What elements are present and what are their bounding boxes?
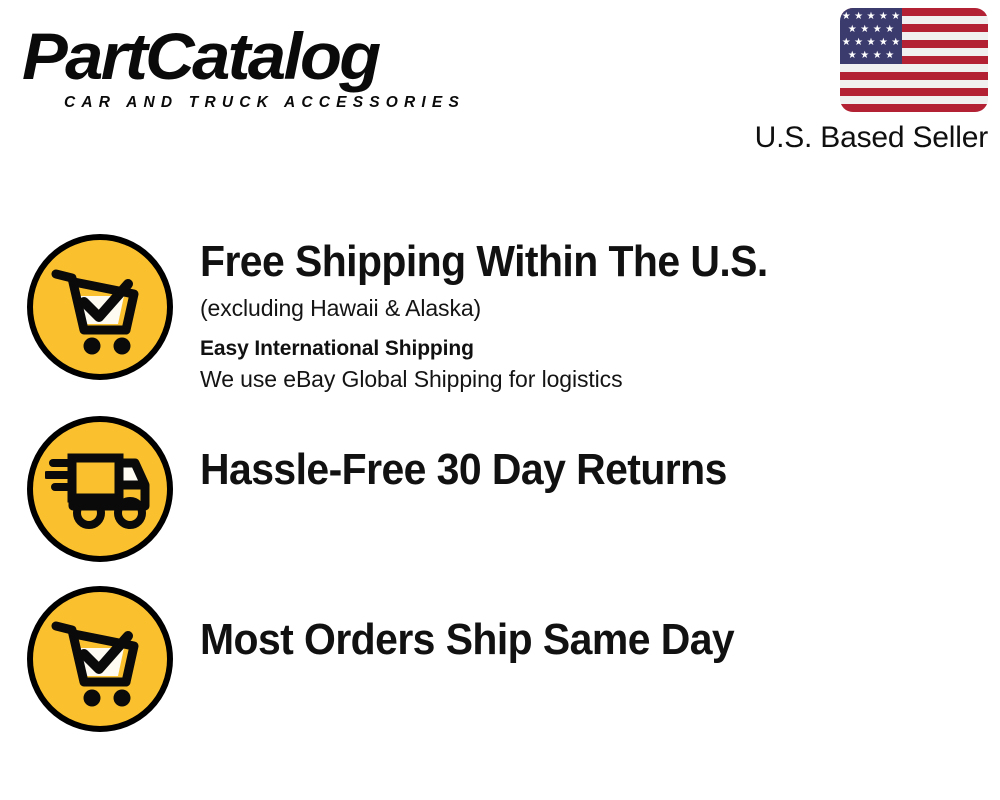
- feature-title: Hassle-Free 30 Day Returns: [200, 444, 944, 496]
- flag-canton: ★★★★★ ★★★★ ★★★★★ ★★★★: [840, 8, 902, 64]
- feature-text: Hassle-Free 30 Day Returns: [200, 414, 1000, 496]
- delivery-truck-icon: [27, 416, 173, 562]
- feature-row: Most Orders Ship Same Day: [0, 584, 1000, 732]
- feature-icon-wrap: [0, 232, 200, 380]
- feature-row: Hassle-Free 30 Day Returns: [0, 414, 1000, 562]
- feature-text: Most Orders Ship Same Day: [200, 584, 1000, 666]
- brand-tagline: CAR AND TRUCK ACCESSORIES: [64, 94, 465, 112]
- feature-icon-wrap: [0, 414, 200, 562]
- brand-wordmark: PartCatalog: [22, 22, 511, 90]
- shopping-cart-check-icon: [27, 234, 173, 380]
- page-header: PartCatalog CAR AND TRUCK ACCESSORIES ★★…: [0, 0, 1000, 175]
- feature-note: (excluding Hawaii & Alaska): [200, 292, 1000, 324]
- feature-sub-title: Easy International Shipping: [200, 334, 1000, 364]
- shopping-cart-check-icon: [27, 586, 173, 732]
- feature-title: Free Shipping Within The U.S.: [200, 236, 944, 288]
- feature-icon-wrap: [0, 584, 200, 732]
- seller-label: U.S. Based Seller: [718, 121, 988, 155]
- feature-title: Most Orders Ship Same Day: [200, 614, 944, 666]
- feature-text: Free Shipping Within The U.S. (excluding…: [200, 232, 1000, 395]
- seller-badge: ★★★★★ ★★★★ ★★★★★ ★★★★ U.S. Based Seller: [718, 8, 988, 155]
- feature-row: Free Shipping Within The U.S. (excluding…: [0, 232, 1000, 395]
- brand-logo[interactable]: PartCatalog CAR AND TRUCK ACCESSORIES: [22, 22, 492, 117]
- us-flag-icon: ★★★★★ ★★★★ ★★★★★ ★★★★: [840, 8, 988, 112]
- feature-sub-text: We use eBay Global Shipping for logistic…: [200, 364, 1000, 395]
